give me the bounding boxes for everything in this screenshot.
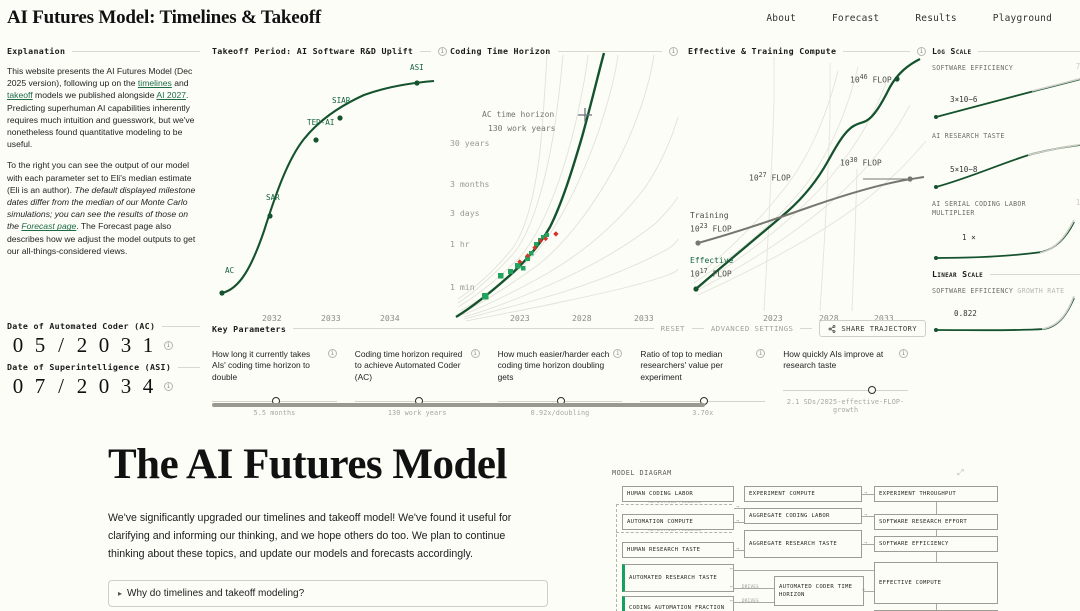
connector	[734, 570, 874, 571]
diagram-box-effective-compute[interactable]: EFFECTIVE COMPUTE	[874, 562, 998, 604]
nav-item-forecast[interactable]: Forecast	[832, 13, 879, 24]
mini-curve-faded	[1032, 76, 1080, 91]
feedback-loop-line	[616, 532, 732, 533]
diagram-box-human-coding-labor[interactable]: HUMAN CODING LABOR	[622, 486, 734, 502]
slider-value: 130 work years	[355, 409, 480, 417]
compute-label-effective-value: 1017 FLOP	[690, 267, 732, 279]
asi-digit-4: 0	[93, 374, 115, 399]
main-nav: About Forecast Results Playground	[766, 13, 1052, 24]
slider-description: How long it currently takes AIs' coding …	[212, 349, 324, 383]
edge-label-drives: DRIVES	[742, 598, 759, 603]
compute-label-training-value: 1023 FLOP	[690, 222, 732, 234]
heading-rule	[692, 328, 704, 329]
info-icon[interactable]: i	[328, 349, 337, 358]
takeoff-chart-heading: Takeoff Period: AI Software R&D Uplift i	[212, 45, 447, 57]
mini-title-software-efficiency: Software Efficiency	[932, 64, 1080, 73]
date-asi-label: Date of Superintelligence (ASI)	[7, 362, 171, 372]
horizon-plot: AC time horizon 130 work years 30 years …	[450, 61, 678, 309]
arrow-icon: →	[736, 504, 739, 510]
model-diagram-title: MODEL DIAGRAM	[612, 469, 672, 477]
mini-plot-ai-serial-coding-labor: 1 × 1000	[932, 218, 1080, 264]
diagram-box-automated-coder-time-horizon[interactable]: AUTOMATED CODER TIME HORIZON	[774, 576, 864, 606]
arrow-icon: →	[864, 540, 867, 546]
compute-label-training-name: Training	[690, 211, 729, 220]
date-block-asi: Date of Superintelligence (ASI) 0 7 / 2 …	[7, 361, 200, 399]
mini-start-dot	[934, 185, 938, 189]
mini-max-software-efficiency: 7×10	[1076, 62, 1080, 71]
training-end-point	[907, 176, 912, 181]
mini-value-software-efficiency: 3×10−6	[950, 95, 977, 104]
diagram-box-experiment-compute[interactable]: EXPERIMENT COMPUTE	[744, 486, 862, 502]
accordion-item-why-modeling[interactable]: ▸Why do timelines and takeoff modeling?	[108, 580, 548, 607]
key-parameters-title: Key Parameters	[212, 324, 286, 334]
page-title: AI Futures Model: Timelines & Takeoff	[7, 7, 321, 29]
horizon-ytick-30-years: 30 years	[450, 138, 489, 148]
slider-value: 3.70x	[640, 409, 765, 417]
mini-plot-ai-research-taste: 5×10−8 160	[932, 141, 1080, 193]
slider-research-taste-improvement: How quickly AIs improve at research tast…	[783, 349, 926, 417]
monte-carlo-samples	[458, 55, 678, 321]
log-scale-heading: Log Scale	[932, 45, 1080, 57]
slider-description: How much easier/harder each coding time …	[498, 349, 610, 383]
feedback-loop-line	[616, 504, 617, 611]
diagram-box-aggregate-research-taste[interactable]: AGGREGATE RESEARCH TASTE	[744, 530, 862, 558]
horizon-chart-heading: Coding Time Horizon i	[450, 45, 678, 57]
mini-curve	[936, 222, 1074, 258]
arrow-icon: →	[864, 512, 867, 518]
ac-digit-3: 2	[71, 333, 93, 358]
hero-title: The AI Futures Model	[108, 440, 600, 489]
advanced-settings-button[interactable]: ADVANCED SETTINGS	[711, 324, 793, 333]
key-parameters-header: Key Parameters RESET ADVANCED SETTINGS S…	[212, 320, 926, 337]
info-icon[interactable]: i	[756, 349, 765, 358]
point-asi	[414, 80, 419, 85]
mini-title-main: Software Efficiency	[932, 287, 1013, 295]
diagram-box-human-research-taste[interactable]: HUMAN RESEARCH TASTE	[622, 542, 734, 558]
nav-item-results[interactable]: Results	[915, 13, 956, 24]
model-diagram-header: MODEL DIAGRAM ⤢	[612, 468, 1012, 478]
share-trajectory-button[interactable]: SHARE TRAJECTORY	[819, 320, 926, 337]
info-icon[interactable]: i	[438, 47, 447, 56]
arrow-icon: ←	[862, 587, 865, 593]
takeoff-label-sar: SAR	[266, 193, 280, 202]
connector	[936, 552, 937, 562]
diagram-box-experiment-throughput[interactable]: EXPERIMENT THROUGHPUT	[874, 486, 998, 502]
effective-start-point	[693, 286, 698, 291]
info-icon[interactable]: i	[669, 47, 678, 56]
diagram-box-aggregate-coding-labor[interactable]: AGGREGATE CODING LABOR	[744, 508, 862, 524]
heading-rule	[178, 367, 200, 368]
asi-digit-3: 2	[71, 374, 93, 399]
milestone-dates: Date of Automated Coder (AC) 0 5 / 2 0 3…	[7, 320, 200, 402]
explanation-heading: Explanation	[7, 45, 200, 57]
hero-body: We've significantly upgraded our timelin…	[108, 509, 538, 563]
mini-title-ai-serial-coding-labor: AI Serial Coding Labor Multiplier	[932, 200, 1080, 218]
date-ac-value: 0 5 / 2 0 3 1 i	[7, 333, 200, 358]
arrow-icon: →	[864, 490, 867, 496]
mini-chart-ai-research-taste: AI Research Taste 5×10−8 160	[932, 132, 1080, 193]
site-header: AI Futures Model: Timelines & Takeoff Ab…	[0, 0, 1080, 36]
connector	[936, 530, 937, 536]
horizontal-scrollbar[interactable]	[212, 403, 705, 407]
mini-start-dot	[934, 328, 938, 332]
mini-chart-software-efficiency-growth: Software Efficiency Growth Rate 0.822	[932, 287, 1080, 344]
reset-button[interactable]: RESET	[661, 324, 685, 333]
mini-value-ai-research-taste: 5×10−8	[950, 165, 977, 174]
heading-rule	[990, 274, 1080, 275]
explanation-body: This website presents the AI Futures Mod…	[7, 65, 200, 257]
takeoff-label-ted-ai: TED-AI	[307, 118, 334, 127]
explanation-paragraph-2: To the right you can see the output of o…	[7, 159, 200, 257]
mini-max-ai-serial-coding-labor: 1000	[1076, 198, 1080, 207]
heading-rule	[420, 51, 431, 52]
date-ac-heading: Date of Automated Coder (AC)	[7, 320, 200, 332]
takeoff-chart-title: Takeoff Period: AI Software R&D Uplift	[212, 46, 413, 56]
slider-knob[interactable]	[868, 386, 876, 394]
horizon-ytick-1-min: 1 min	[450, 282, 475, 292]
compute-label-10e46: 1046 FLOP	[850, 73, 892, 85]
takeoff-curve	[222, 81, 434, 293]
mini-value-software-efficiency-growth: 0.822	[954, 309, 977, 318]
chart-panel-coding-time-horizon: Coding Time Horizon i	[450, 45, 678, 309]
horizon-ytick-1-hr: 1 hr	[450, 239, 470, 249]
slider-value: 0.92x/doubling	[498, 409, 623, 417]
mini-curve-faded	[1028, 143, 1080, 155]
diagram-box-automated-research-taste[interactable]: AUTOMATED RESEARCH TASTE	[622, 564, 734, 592]
heading-rule	[843, 51, 910, 52]
mini-title-software-efficiency-growth: Software Efficiency Growth Rate	[932, 287, 1080, 296]
arrow-icon: ←	[730, 584, 733, 590]
slider-track-container[interactable]	[783, 386, 908, 395]
compute-label-effective-name: Effective	[690, 256, 733, 265]
slider-header: How much easier/harder each coding time …	[498, 349, 623, 383]
info-icon[interactable]: i	[164, 341, 173, 350]
effective-end-point	[894, 76, 899, 81]
ac-time-horizon-label: AC time horizon	[482, 110, 554, 119]
linear-scale-heading: Linear Scale	[932, 268, 1080, 280]
slider-header: Ratio of top to median researchers' valu…	[640, 349, 765, 383]
info-icon[interactable]: i	[471, 349, 480, 358]
horizon-chart-title: Coding Time Horizon	[450, 46, 551, 56]
slider-description: Coding time horizon required to achieve …	[355, 349, 467, 383]
ac-digit-4: 0	[93, 333, 115, 358]
nav-item-playground[interactable]: Playground	[993, 13, 1052, 24]
date-asi-heading: Date of Superintelligence (ASI)	[7, 361, 200, 373]
linear-scale-label: Linear Scale	[932, 269, 983, 279]
para1-text-c: models we published alongside	[33, 90, 157, 100]
mini-chart-ai-serial-coding-labor: AI Serial Coding Labor Multiplier 1 × 10…	[932, 200, 1080, 264]
diagram-box-coding-automation-fraction[interactable]: CODING AUTOMATION FRACTION AND EFFICIENC…	[622, 596, 734, 611]
nav-item-about[interactable]: About	[766, 13, 796, 24]
takeoff-svg	[212, 61, 447, 309]
benchmark-markers-alt	[517, 231, 558, 264]
ac-time-horizon-value: 130 work years	[488, 124, 555, 133]
explanation-paragraph-1: This website presents the AI Futures Mod…	[7, 65, 200, 150]
heading-rule	[72, 51, 200, 52]
right-rail: Log Scale Software Efficiency 3×10−6 7×1…	[932, 45, 1080, 344]
info-icon[interactable]: i	[899, 349, 908, 358]
mini-value-ai-serial-coding-labor: 1 ×	[962, 233, 976, 242]
model-diagram-canvas: AUTOMATION FEEDBACK AUTOMATION FEEDBACK …	[612, 484, 1012, 611]
connector	[936, 604, 937, 610]
arrow-icon: →	[736, 546, 739, 552]
mini-plot-software-efficiency-growth: 0.822	[932, 296, 1080, 344]
edge-label-drives: DRIVES	[742, 584, 759, 589]
point-siar	[337, 115, 342, 120]
diagram-box-software-efficiency[interactable]: SOFTWARE EFFICIENCY	[874, 536, 998, 552]
chart-panel-takeoff: Takeoff Period: AI Software R&D Uplift i…	[212, 45, 447, 309]
mini-curve-faded	[1042, 296, 1074, 329]
date-asi-value: 0 7 / 2 0 3 4 i	[7, 374, 200, 399]
horizon-ytick-3-months: 3 months	[450, 179, 489, 189]
heading-rule	[800, 328, 812, 329]
explanation-heading-label: Explanation	[7, 46, 65, 56]
chart-panel-compute: Effective & Training Compute i 1046	[688, 45, 926, 309]
connector	[864, 591, 874, 592]
mini-chart-software-efficiency: Software Efficiency 3×10−6 7×10	[932, 64, 1080, 125]
mini-title-main: AI Serial Coding Labor	[932, 200, 1026, 208]
ac-digit-1: 5	[29, 333, 51, 358]
ac-digit-0: 0	[7, 333, 29, 358]
para1-text-b: and	[172, 78, 189, 88]
slider-header: How long it currently takes AIs' coding …	[212, 349, 337, 383]
compute-label-10e27: 1027 FLOP	[749, 171, 791, 183]
mini-title-sub: Growth Rate	[1017, 287, 1064, 295]
info-icon[interactable]: i	[164, 382, 173, 391]
slider-value: 2.1 SDs/2025-effective-FLOP-growth	[783, 398, 908, 414]
compute-label-10e30: 1030 FLOP	[840, 156, 882, 168]
compute-chart-title: Effective & Training Compute	[688, 46, 836, 56]
arrow-icon: ←	[730, 566, 733, 572]
link-ai2027[interactable]: AI 2027	[156, 90, 186, 100]
asi-digit-1: 7	[29, 374, 51, 399]
asi-slash: /	[51, 374, 71, 399]
heading-rule	[558, 51, 662, 52]
point-ted-ai	[313, 137, 318, 142]
heading-rule	[162, 326, 200, 327]
asi-digit-6: 4	[137, 374, 159, 399]
effective-compute-curve	[696, 59, 920, 289]
link-timelines[interactable]: timelines	[138, 78, 172, 88]
accordion-label: Why do timelines and takeoff modeling?	[127, 588, 304, 599]
info-icon[interactable]: i	[917, 47, 926, 56]
takeoff-label-ac: AC	[225, 266, 234, 275]
ac-digit-5: 3	[115, 333, 137, 358]
diagram-box-software-research-effort[interactable]: SOFTWARE RESEARCH EFFORT	[874, 514, 998, 530]
slider-value: 5.5 months	[212, 409, 337, 417]
takeoff-label-siar: SIAR	[332, 96, 350, 105]
share-trajectory-label: SHARE TRAJECTORY	[841, 324, 917, 333]
asi-digit-5: 3	[115, 374, 137, 399]
mini-curve-faded	[1040, 220, 1074, 253]
expand-icon[interactable]: ⤢	[957, 468, 964, 478]
takeoff-label-asi: ASI	[410, 63, 424, 72]
model-diagram-panel: MODEL DIAGRAM ⤢ AUTOMATION FEEDBACK AUTO…	[612, 468, 1012, 611]
info-icon[interactable]: i	[613, 349, 622, 358]
point-sar	[267, 213, 272, 218]
connector	[936, 502, 937, 514]
mini-title-ai-research-taste: AI Research Taste	[932, 132, 1080, 141]
arrow-icon: ←	[730, 598, 733, 604]
link-takeoff[interactable]: takeoff	[7, 90, 33, 100]
slider-description: Ratio of top to median researchers' valu…	[640, 349, 752, 383]
horizon-ytick-3-days: 3 days	[450, 208, 480, 218]
point-ac	[219, 290, 224, 295]
slider-track	[783, 390, 908, 391]
feedback-loop-line	[616, 504, 732, 505]
compute-plot: 1046 FLOP 1030 FLOP 1027 FLOP Training 1…	[688, 61, 926, 309]
slider-header: Coding time horizon required to achieve …	[355, 349, 480, 383]
heading-rule	[978, 51, 1080, 52]
training-start-point	[695, 240, 700, 245]
explanation-panel: Explanation This website presents the AI…	[7, 45, 200, 257]
log-scale-label: Log Scale	[932, 46, 971, 56]
mini-start-dot	[934, 256, 938, 260]
heading-rule	[293, 328, 654, 329]
mini-title-sub: Multiplier	[932, 209, 975, 217]
slider-description: How quickly AIs improve at research tast…	[783, 349, 895, 372]
link-forecast-page[interactable]: Forecast page	[21, 221, 76, 231]
slider-header: How quickly AIs improve at research tast…	[783, 349, 908, 372]
bullet-icon: ▸	[118, 589, 122, 598]
ac-digit-6: 1	[137, 333, 159, 358]
share-icon	[828, 325, 836, 333]
compute-chart-heading: Effective & Training Compute i	[688, 45, 926, 57]
arrow-icon: →	[736, 518, 739, 524]
date-block-ac: Date of Automated Coder (AC) 0 5 / 2 0 3…	[7, 320, 200, 358]
date-ac-label: Date of Automated Coder (AC)	[7, 321, 155, 331]
asi-digit-0: 0	[7, 374, 29, 399]
takeoff-plot: AC SAR TED-AI SIAR ASI 2032 2033 2034	[212, 61, 447, 309]
hero-section: The AI Futures Model We've significantly…	[0, 440, 600, 607]
ac-slash: /	[51, 333, 71, 358]
mini-start-dot	[934, 115, 938, 119]
diagram-box-automation-compute[interactable]: AUTOMATION COMPUTE	[622, 514, 734, 530]
mini-plot-software-efficiency: 3×10−6 7×10	[932, 73, 1080, 125]
